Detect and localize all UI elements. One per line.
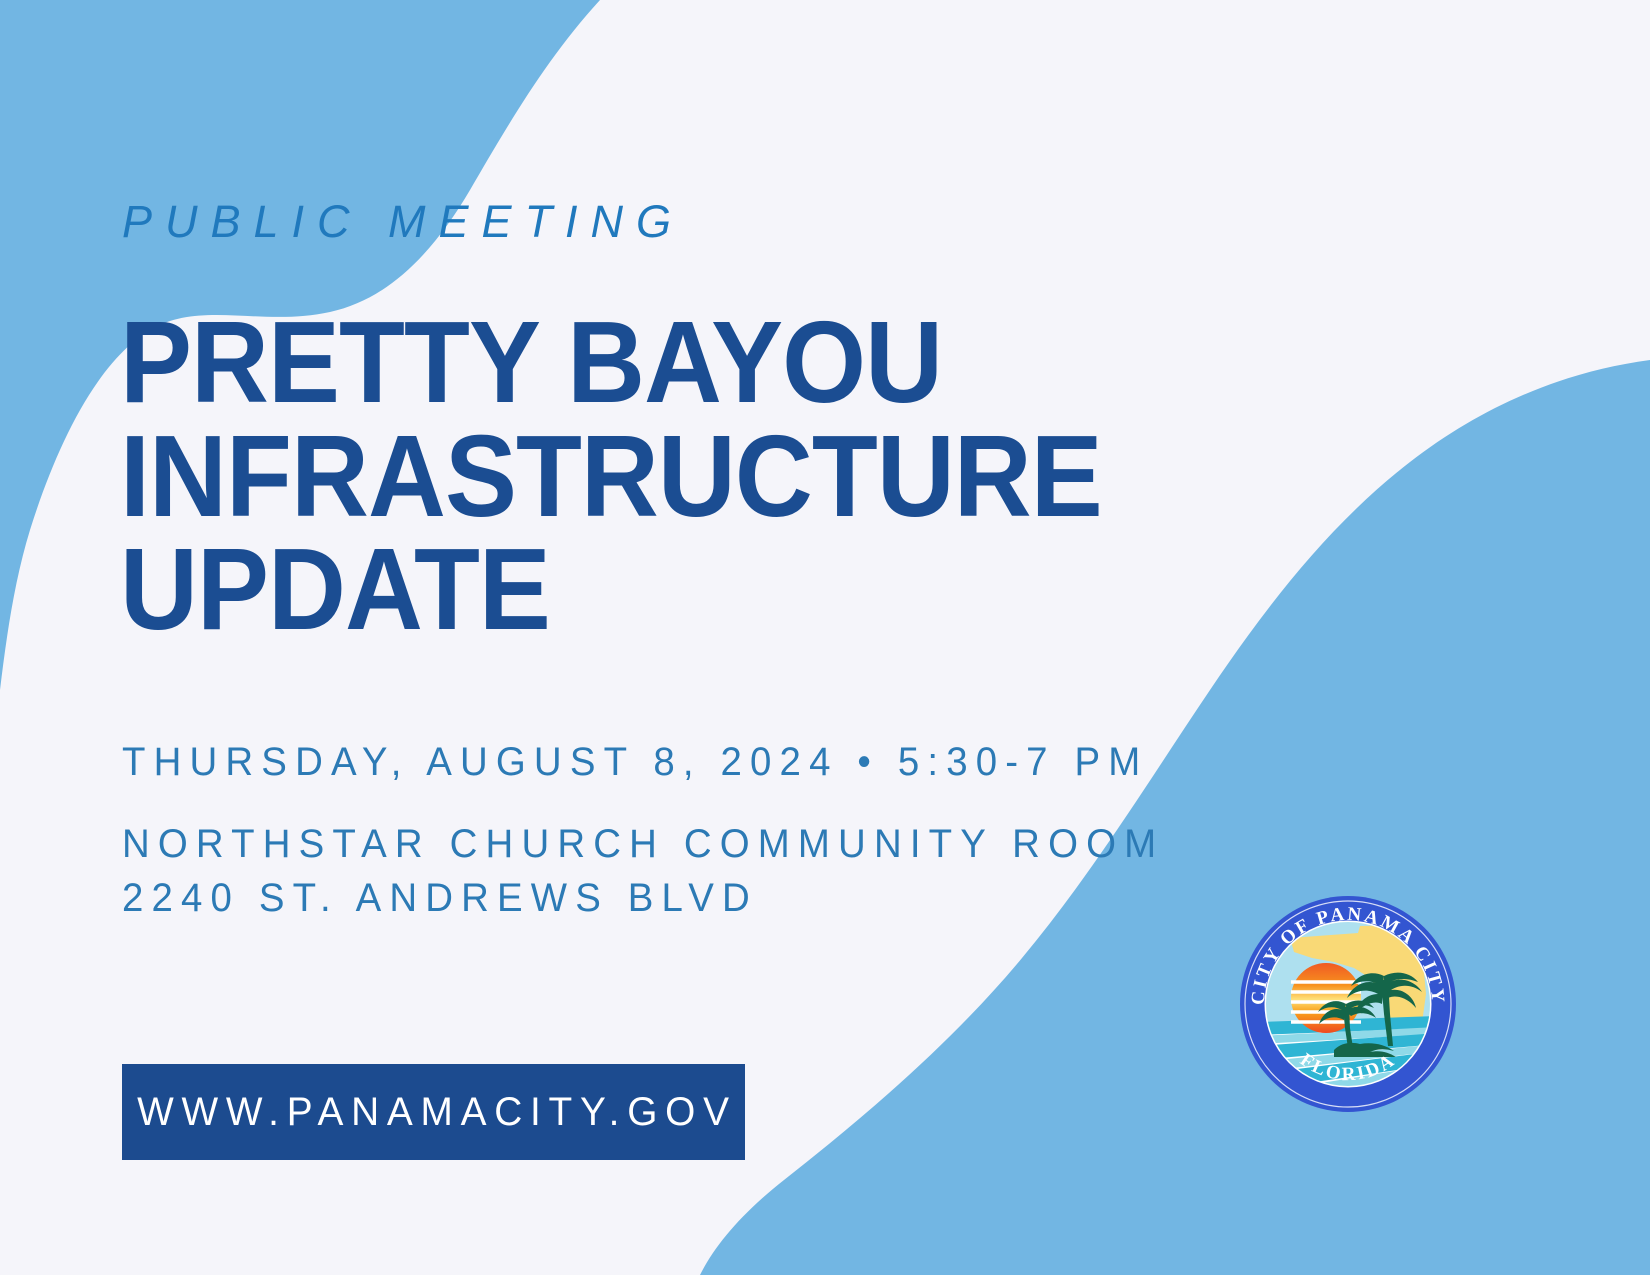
city-seal-graphic: CITY OF PANAMA CITY FLORIDA xyxy=(1238,894,1458,1114)
event-datetime: THURSDAY, AUGUST 8, 2024 • 5:30-7 PM xyxy=(122,742,1164,782)
event-address: 2240 ST. ANDREWS BLVD xyxy=(122,878,1164,918)
eyebrow-label: PUBLIC MEETING xyxy=(122,196,684,248)
city-seal-logo: CITY OF PANAMA CITY FLORIDA xyxy=(1238,894,1458,1114)
event-venue: NORTHSTAR CHURCH COMMUNITY ROOM xyxy=(122,824,1164,864)
headline-line-2: INFRASTRUCTURE xyxy=(120,420,1106,534)
poster-canvas: PUBLIC MEETING PRETTY BAYOU INFRASTRUCTU… xyxy=(0,0,1650,1275)
seal-sunset xyxy=(1291,963,1361,1033)
event-details: THURSDAY, AUGUST 8, 2024 • 5:30-7 PM NOR… xyxy=(122,742,1164,918)
website-url-button[interactable]: WWW.PANAMACITY.GOV xyxy=(122,1064,745,1160)
headline-line-1: PRETTY BAYOU xyxy=(120,306,1106,420)
website-url-label: WWW.PANAMACITY.GOV xyxy=(130,1090,737,1135)
headline-line-3: UPDATE xyxy=(120,533,1106,647)
page-title: PRETTY BAYOU INFRASTRUCTURE UPDATE xyxy=(120,306,1106,647)
